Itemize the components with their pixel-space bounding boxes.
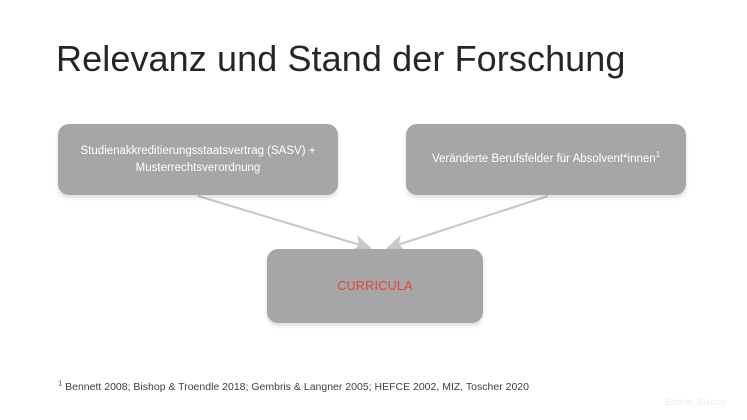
- connector-left-to-curricula: [198, 196, 370, 248]
- node-berufsfelder-footnote-marker: 1: [656, 150, 660, 159]
- author-watermark: Esther Bishop: [665, 397, 727, 408]
- footnote-text: Bennett 2008; Bishop & Troendle 2018; Ge…: [65, 381, 529, 393]
- node-berufsfelder[interactable]: Veränderte Berufsfelder für Absolvent*in…: [406, 124, 686, 195]
- slide-canvas: Relevanz und Stand der Forschung Studien…: [0, 0, 747, 420]
- node-sasv-label-line1: Studienakkreditierungsstaatsvertrag (SAS…: [81, 145, 316, 157]
- node-berufsfelder-label: Veränderte Berufsfelder für Absolvent*in…: [432, 151, 660, 168]
- node-curricula[interactable]: CURRICULA: [267, 249, 483, 323]
- node-sasv-label: Studienakkreditierungsstaatsvertrag (SAS…: [81, 143, 316, 177]
- node-sasv-label-line2: Musterrechtsverordnung: [136, 162, 261, 174]
- node-sasv[interactable]: Studienakkreditierungsstaatsvertrag (SAS…: [58, 124, 338, 195]
- node-curricula-label: CURRICULA: [337, 278, 413, 295]
- connector-right-to-curricula: [388, 196, 548, 248]
- footnote: 1 Bennett 2008; Bishop & Troendle 2018; …: [58, 380, 529, 394]
- footnote-marker: 1: [58, 379, 62, 388]
- node-berufsfelder-label-text: Veränderte Berufsfelder für Absolvent*in…: [432, 153, 656, 165]
- page-title: Relevanz und Stand der Forschung: [56, 36, 696, 82]
